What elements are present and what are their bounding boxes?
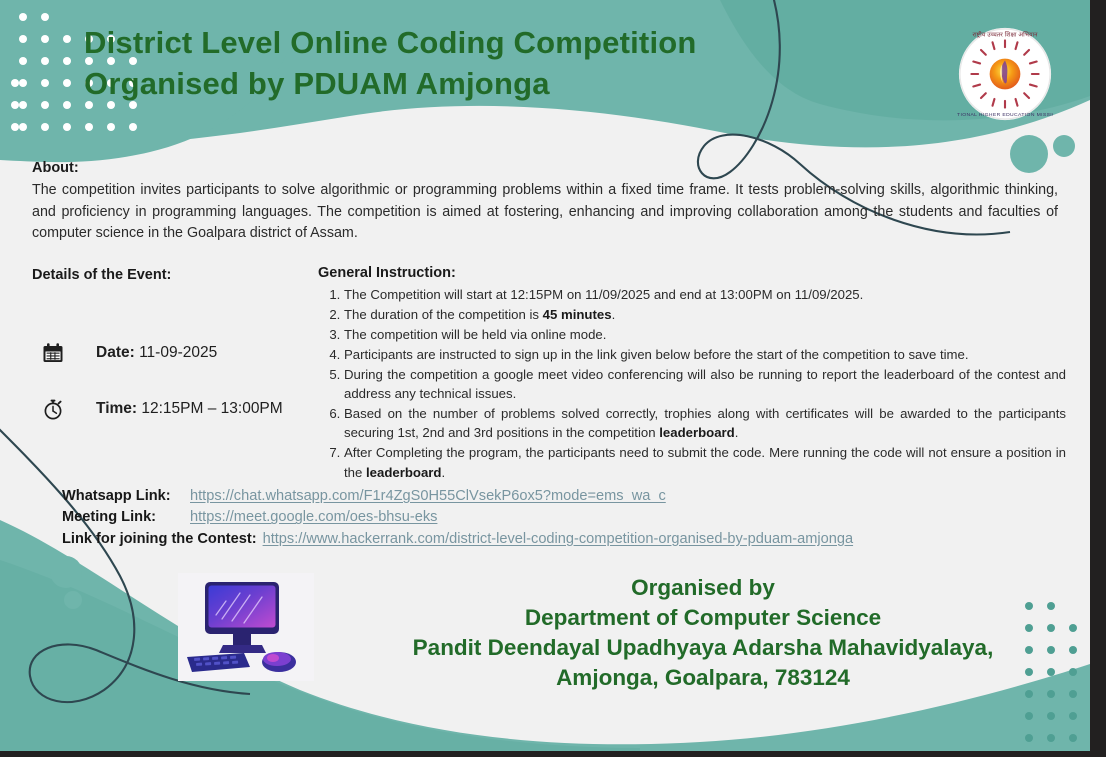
links-section: Whatsapp Link:https://chat.whatsapp.com/…: [62, 486, 1062, 550]
meeting-link-url[interactable]: https://meet.google.com/oes-bhsu-eks: [190, 509, 437, 525]
svg-text:राष्ट्रीय उच्चतर शिक्षा अभियान: राष्ट्रीय उच्चतर शिक्षा अभियान: [972, 31, 1038, 39]
about-section: About: The competition invites participa…: [32, 160, 1058, 245]
instruction-item-4: Participants are instructed to sign up i…: [344, 345, 1066, 364]
link-row-meeting: Meeting Link:https://meet.google.com/oes…: [62, 507, 1062, 528]
contest-link-url[interactable]: https://www.hackerrank.com/district-leve…: [263, 531, 853, 547]
instruction-text: Participants are instructed to sign up i…: [344, 347, 969, 362]
detail-time-label: Time:: [96, 400, 137, 417]
stopwatch-icon: [40, 396, 66, 422]
instruction-text: The competition will be held via online …: [344, 327, 606, 342]
instruction-item-6: Based on the number of problems solved c…: [344, 404, 1066, 443]
page-title: District Level Online Coding Competition…: [84, 22, 874, 104]
instruction-text-tail: .: [442, 465, 446, 480]
detail-row-time: Time: 12:15PM – 13:00PM: [40, 381, 310, 437]
instruction-item-1: The Competition will start at 12:15PM on…: [344, 285, 1066, 304]
organiser-block: Organised by Department of Computer Scie…: [350, 573, 1056, 693]
organiser-line-3: Pandit Deendayal Upadhyaya Adarsha Mahav…: [350, 633, 1056, 663]
instruction-text: The duration of the competition is: [344, 307, 543, 322]
organiser-line-1: Organised by: [350, 573, 1056, 603]
about-heading: About:: [32, 160, 1058, 176]
details-heading: Details of the Event:: [32, 267, 171, 283]
instruction-emphasis: leaderboard: [659, 425, 735, 440]
instructions-list: The Competition will start at 12:15PM on…: [318, 285, 1066, 482]
instruction-item-5: During the competition a google meet vid…: [344, 365, 1066, 404]
whatsapp-link-label: Whatsapp Link:: [62, 486, 190, 507]
whatsapp-link-url[interactable]: https://chat.whatsapp.com/F1r4ZgS0H55ClV…: [190, 488, 666, 504]
link-row-whatsapp: Whatsapp Link:https://chat.whatsapp.com/…: [62, 486, 1062, 507]
instruction-text-tail: .: [612, 307, 616, 322]
instruction-text: After Completing the program, the partic…: [344, 445, 1066, 479]
detail-date-value: 11-09-2025: [139, 344, 217, 361]
instruction-item-3: The competition will be held via online …: [344, 325, 1066, 344]
detail-date-label: Date:: [96, 344, 135, 361]
instruction-item-2: The duration of the competition is 45 mi…: [344, 305, 1066, 324]
meeting-link-label: Meeting Link:: [62, 507, 190, 528]
detail-time-text: Time: 12:15PM – 13:00PM: [78, 400, 283, 418]
instruction-emphasis: leaderboard: [366, 465, 442, 480]
instructions-section: General Instruction: The Competition wil…: [318, 265, 1066, 483]
organiser-line-2: Department of Computer Science: [350, 603, 1056, 633]
title-line-1: District Level Online Coding Competition: [84, 25, 697, 60]
detail-row-date: Date: 11-09-2025: [40, 325, 310, 381]
title-line-2: Organised by PDUAM Amjonga: [84, 63, 874, 104]
right-edge-strip: [1090, 0, 1106, 757]
about-paragraph: The competition invites participants to …: [32, 180, 1058, 245]
instruction-item-7: After Completing the program, the partic…: [344, 443, 1066, 482]
desktop-computer-illustration: [178, 573, 314, 681]
link-row-contest: Link for joining the Contest:https://www…: [62, 529, 1062, 550]
detail-time-value: 12:15PM – 13:00PM: [141, 400, 282, 417]
instruction-text: The Competition will start at 12:15PM on…: [344, 287, 863, 302]
details-list: Date: 11-09-2025 Time: 12:15PM – 13:00PM: [40, 325, 310, 437]
organiser-line-4: Amjonga, Goalpara, 783124: [350, 663, 1056, 693]
bottom-edge-strip: [0, 751, 1106, 757]
instructions-heading: General Instruction:: [318, 265, 1066, 281]
detail-date-text: Date: 11-09-2025: [78, 344, 217, 362]
svg-text:NATIONAL HIGHER EDUCATION MISS: NATIONAL HIGHER EDUCATION MISSION: [957, 112, 1053, 118]
instruction-text: During the competition a google meet vid…: [344, 367, 1066, 401]
national-higher-education-mission-logo: राष्ट्रीय उच्चतर शिक्षा अभियान NATIONAL …: [957, 26, 1053, 122]
instruction-text-tail: .: [735, 425, 739, 440]
instruction-emphasis: 45 minutes: [543, 307, 612, 322]
poster-canvas: District Level Online Coding Competition…: [0, 0, 1106, 757]
calendar-icon: [40, 340, 66, 366]
contest-link-label: Link for joining the Contest:: [62, 529, 263, 550]
